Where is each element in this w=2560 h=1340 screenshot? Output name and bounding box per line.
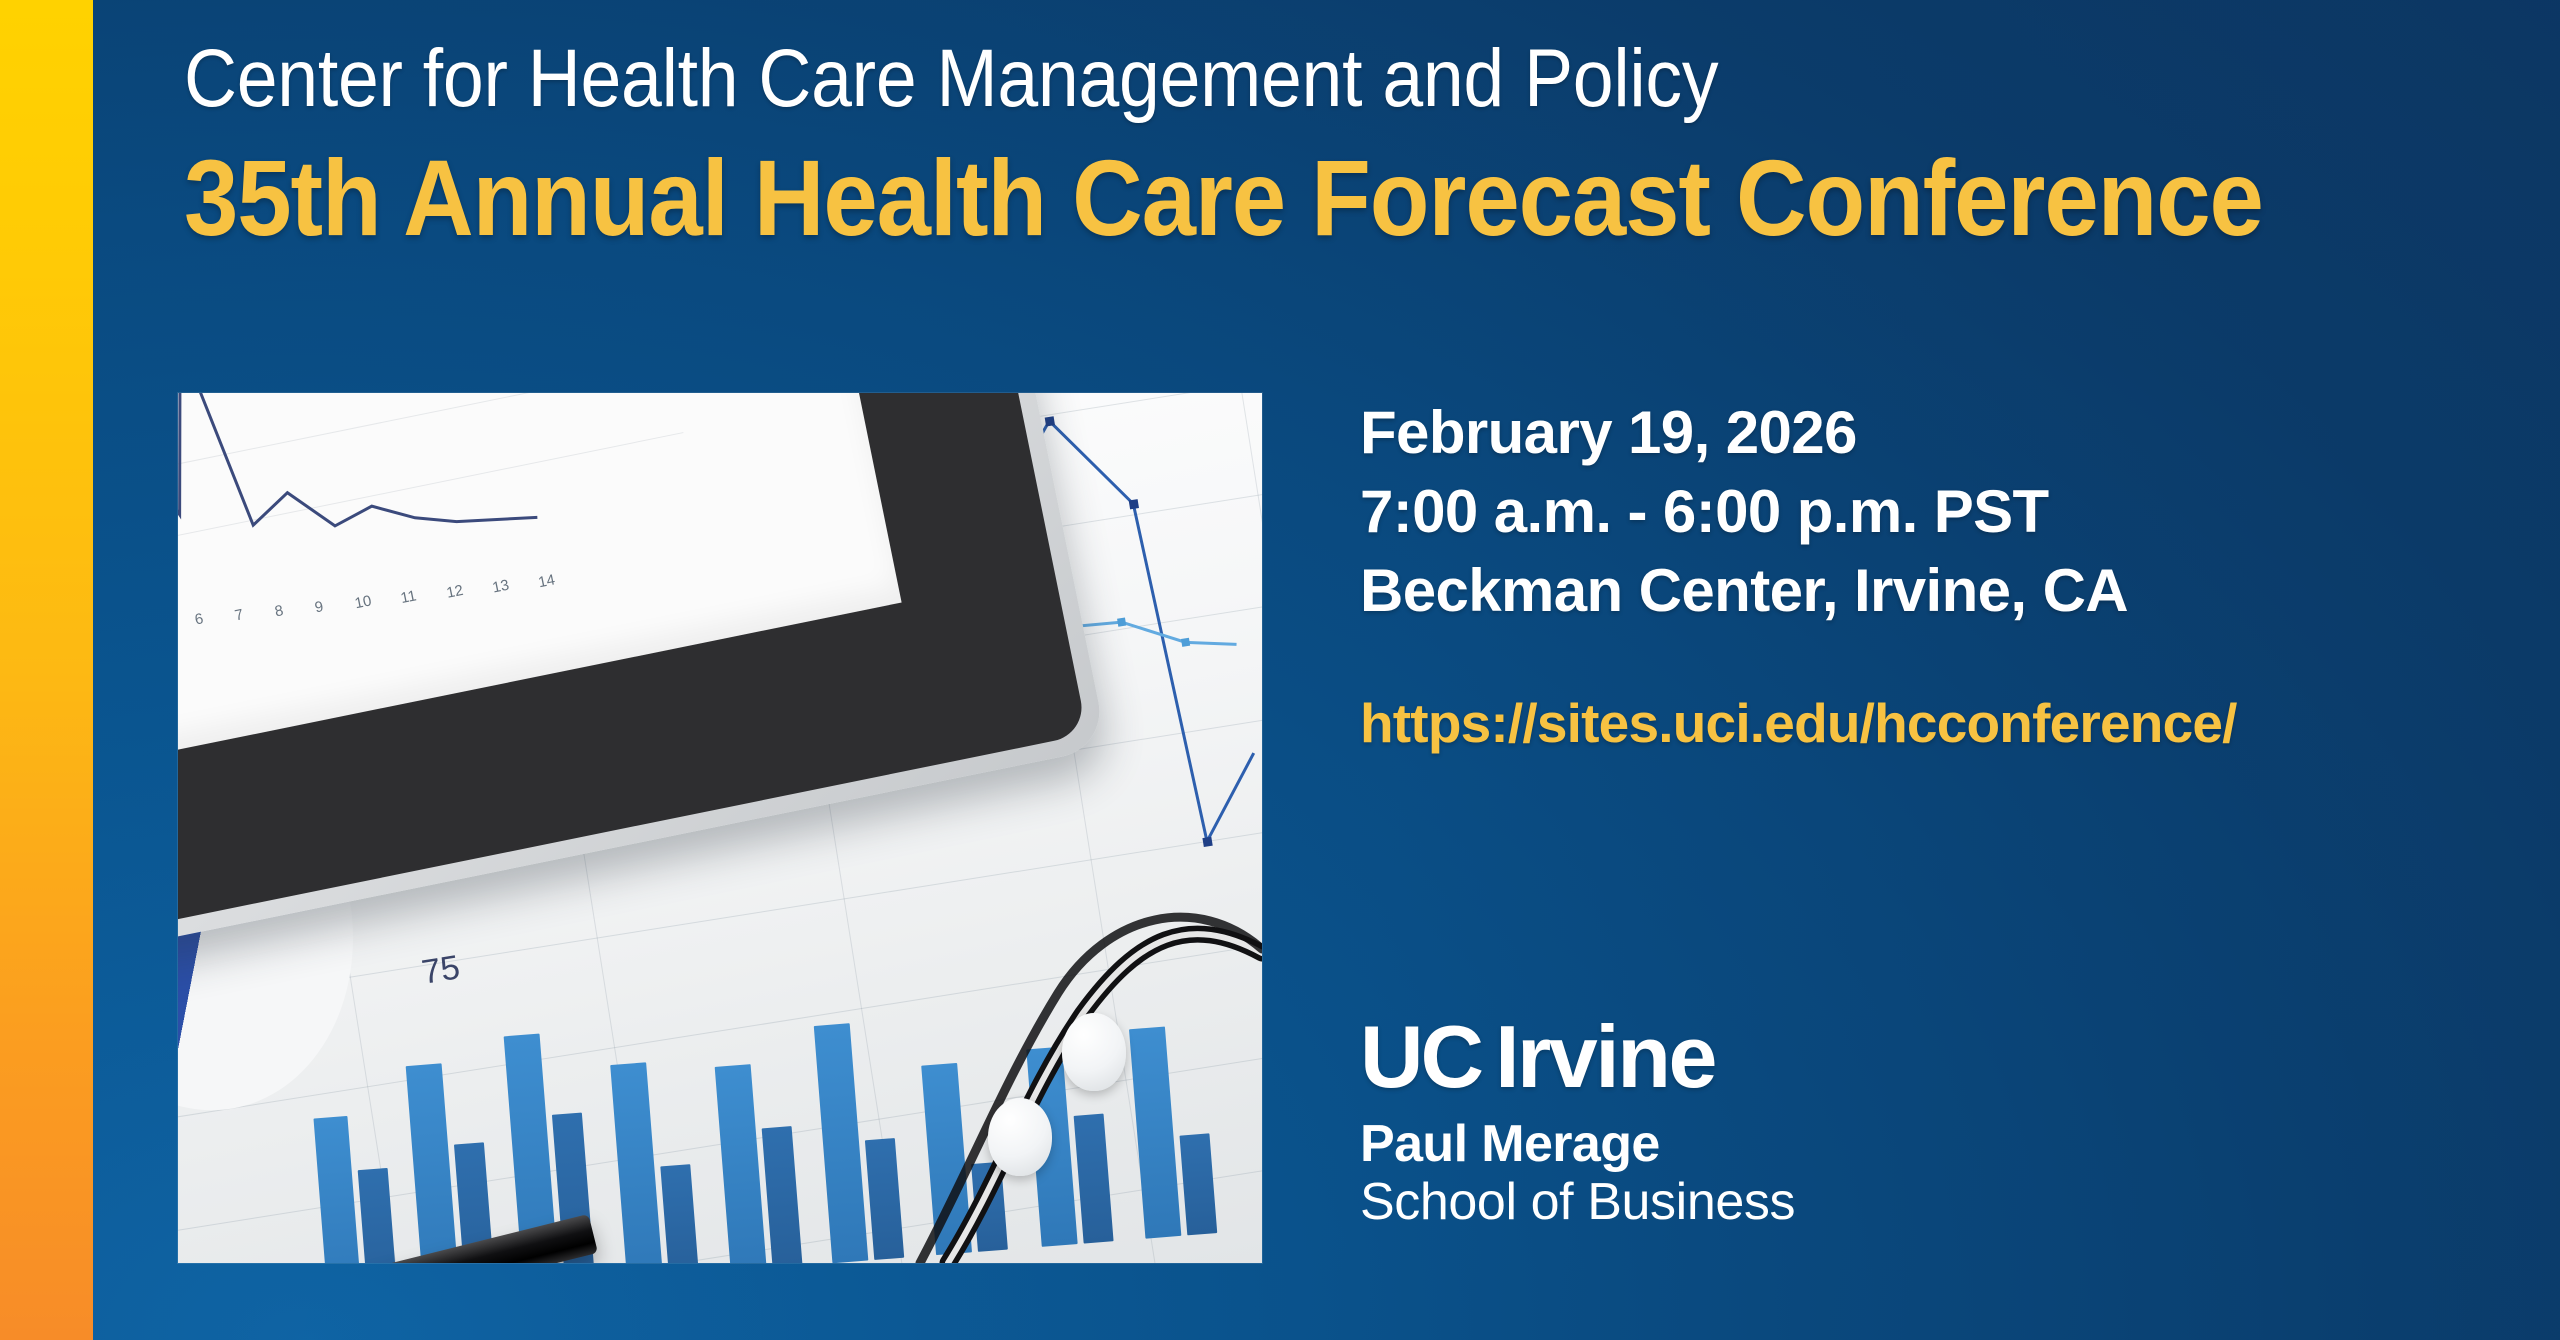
event-time: 7:00 a.m. - 6:00 p.m. PST: [1360, 472, 2480, 551]
stethoscope-earbud-lower: [988, 1098, 1052, 1176]
logo-uc-text: UC: [1360, 1007, 1481, 1106]
tablet-tick-14: 14: [537, 571, 557, 591]
conference-photo: 350 300 250 200 5 75 25: [178, 393, 1262, 1263]
stethoscope-earbud-upper: [1062, 1013, 1126, 1091]
tablet-page: 408630 17,980 5,345 2 3 4: [178, 393, 902, 778]
event-details: February 19, 2026 7:00 a.m. - 6:00 p.m. …: [1360, 393, 2480, 755]
logo-irvine-text: Irvine: [1495, 1007, 1715, 1106]
logo-school-line2: School of Business: [1360, 1173, 2260, 1231]
center-name: Center for Health Care Management and Po…: [184, 38, 2269, 120]
tablet-tick-11: 11: [399, 587, 418, 607]
conference-url-link[interactable]: https://sites.uci.edu/hcconference/: [1360, 691, 2480, 755]
logo-school-line1: Paul Merage: [1360, 1115, 2260, 1173]
uc-irvine-merage-logo: UCIrvine Paul Merage School of Business: [1360, 1013, 2260, 1231]
tablet-tick-13: 13: [491, 577, 511, 597]
tablet-tick-10: 10: [353, 592, 373, 612]
event-date: February 19, 2026: [1360, 393, 2480, 472]
page-title: 35th Annual Health Care Forecast Confere…: [184, 144, 2293, 252]
event-venue: Beckman Center, Irvine, CA: [1360, 551, 2480, 630]
heading-block: Center for Health Care Management and Po…: [184, 38, 2514, 252]
tablet-tick-12: 12: [445, 582, 465, 602]
gold-accent-stripe: [0, 0, 93, 1340]
conference-banner: Center for Health Care Management and Po…: [0, 0, 2560, 1340]
logo-wordmark: UCIrvine: [1360, 1013, 2260, 1101]
